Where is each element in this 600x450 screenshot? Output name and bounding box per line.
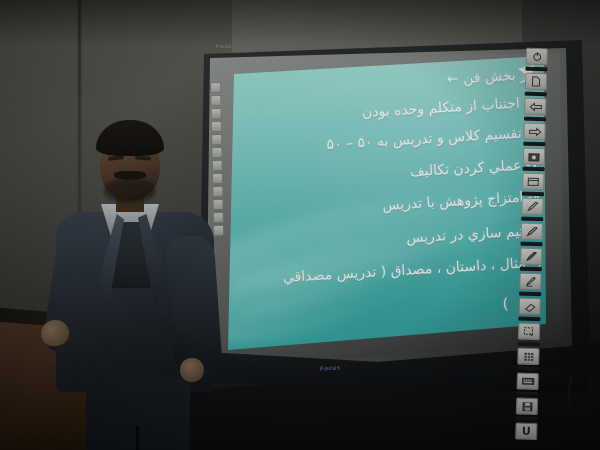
tool-label-15 (516, 416, 538, 421)
tool-label-6 (522, 192, 544, 197)
classroom-photo-scene: در بخش فن ← ۵- اجتناب از متکلم وحده بودن… (0, 0, 600, 450)
tool-label-10 (519, 292, 541, 297)
pen-medium-icon[interactable] (521, 223, 543, 241)
pen-thin-icon[interactable] (521, 198, 543, 216)
presenter-left-hand (180, 358, 204, 382)
page-icon[interactable] (525, 73, 547, 91)
arrow-left-icon[interactable] (524, 98, 546, 116)
grid-icon[interactable] (517, 348, 539, 366)
tool-label-13 (517, 367, 539, 372)
projected-slide: در بخش فن ← ۵- اجتناب از متکلم وحده بودن… (228, 56, 546, 350)
tool-icon-3[interactable] (211, 108, 222, 119)
select-icon[interactable] (518, 323, 540, 341)
tool-label-12 (518, 342, 540, 347)
slide-line-10: ۱۰- مثال ، داستان ، مصداق ( تدریس مصداقي (283, 254, 546, 286)
tool-label-2 (525, 92, 547, 97)
arrow-right-icon[interactable] (523, 123, 545, 141)
slide-line-6: ۶- تقسیم کلاس و تدریس به ۵۰ – ۵۰ (326, 125, 539, 154)
tool-icon-2[interactable] (210, 95, 221, 106)
pen-thick-icon[interactable] (520, 248, 542, 266)
slide-line-5: ۵- اجتناب از متکلم وحده بودن (362, 95, 538, 121)
slide-line-8: ۸- امتزاج پژوهش با تدریس (382, 189, 541, 214)
tool-icon-1[interactable] (210, 82, 221, 93)
presenter-mustache (114, 171, 146, 180)
tool-label-11 (518, 317, 540, 322)
whiteboard-top-logo: Focus (216, 44, 232, 50)
ceiling-shadow (0, 0, 600, 46)
slide-heading: در بخش فن ← (447, 67, 534, 88)
highlighter-icon[interactable] (519, 273, 541, 291)
tool-label-8 (520, 242, 542, 247)
presenter-left-arm (165, 234, 222, 369)
tool-label-7 (521, 217, 543, 222)
slide-line-7: ۷- عملي كردن تكاليف (410, 157, 539, 181)
window-icon[interactable] (522, 173, 544, 191)
usb-icon[interactable]: U (515, 422, 537, 440)
presenter-trouser-seam (136, 426, 139, 450)
tool-label-5 (523, 167, 545, 172)
presenter (38, 126, 228, 450)
slide-closing-paren: ) (502, 295, 509, 313)
slide-text-block: در بخش فن ← ۵- اجتناب از متکلم وحده بودن… (229, 56, 546, 350)
power-icon[interactable] (526, 48, 548, 66)
tool-label-4 (523, 142, 545, 147)
tool-label-14 (516, 392, 538, 397)
tool-label-3 (524, 117, 546, 122)
tool-label-9 (520, 267, 542, 272)
save-icon[interactable] (516, 398, 538, 416)
presenter-hair (96, 120, 164, 156)
camera-icon[interactable] (523, 148, 545, 166)
tool-label-1 (525, 67, 547, 72)
keyboard-icon[interactable] (516, 373, 538, 391)
presenter-beard (104, 179, 156, 203)
eraser-icon[interactable] (519, 298, 541, 316)
